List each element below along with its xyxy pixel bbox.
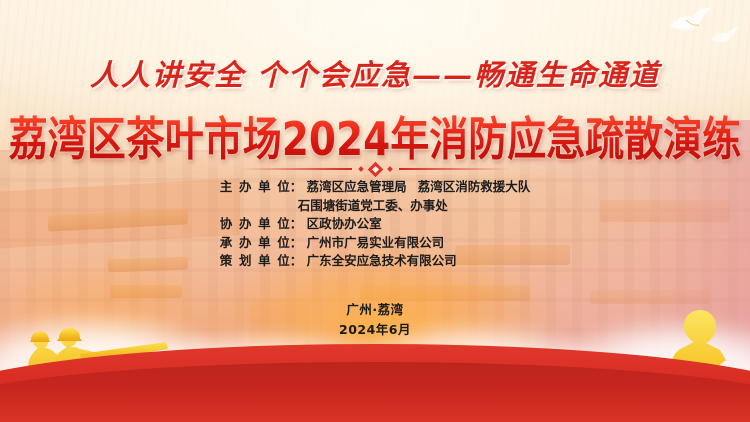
organizer-value-host-2: 荔湾区消防救援大队 (418, 179, 531, 194)
organizer-row-undertaker: 承办单位： 广州市广易实业有限公司 (220, 234, 530, 253)
divider-dot-right (387, 166, 393, 172)
event-place-date: 广州·荔湾 2024年6月 (0, 300, 750, 340)
organizer-label-host: 主办单位 (220, 178, 290, 197)
poster-canvas: 荔湾区茶叶市场2024年消防应急疏散演练 人人讲安全 个个会应急——畅通生命通道… (0, 0, 750, 422)
organizer-row-host: 主办单位： 荔湾区应急管理局荔湾区消防救援大队 (220, 178, 530, 197)
organizer-value-host-3: 石围塘街道党工委、办事处 (220, 197, 530, 216)
divider-dot-left (358, 166, 364, 172)
organizer-label-planner: 策划单位 (220, 252, 290, 271)
organizer-value-co-host: 区政协办公室 (307, 216, 382, 231)
organizer-value-planner: 广东全安应急技术有限公司 (307, 253, 457, 268)
organizer-row-host-continued: 石围塘街道党工委、办事处 (220, 197, 530, 216)
divider-diamond-icon (367, 161, 383, 177)
organizer-value-host-1: 荔湾区应急管理局 (307, 179, 407, 194)
organizer-value-undertaker: 广州市广易实业有限公司 (307, 235, 445, 250)
page-title: 荔湾区茶叶市场2024年消防应急疏散演练 (0, 103, 750, 169)
flying-dove-icon-2 (710, 26, 740, 46)
stage-shadow (0, 362, 750, 422)
organizer-row-planner: 策划单位： 广东全安应急技术有限公司 (220, 252, 530, 271)
flying-dove-icon-1 (668, 6, 714, 36)
organizer-label-undertaker: 承办单位 (220, 234, 290, 253)
organizer-row-co-host: 协办单位： 区政协办公室 (220, 215, 530, 234)
event-location: 广州·荔湾 (0, 300, 750, 320)
divider-line-left (240, 168, 352, 169)
event-date: 2024年6月 (0, 320, 750, 340)
poster-slogan: 人人讲安全 个个会应急——畅通生命通道 (0, 52, 750, 94)
divider-line-right (399, 168, 511, 169)
organizer-label-co-host: 协办单位 (220, 215, 290, 234)
ornament-divider (240, 162, 510, 176)
organizer-list: 主办单位： 荔湾区应急管理局荔湾区消防救援大队 石围塘街道党工委、办事处 协办单… (0, 178, 750, 271)
